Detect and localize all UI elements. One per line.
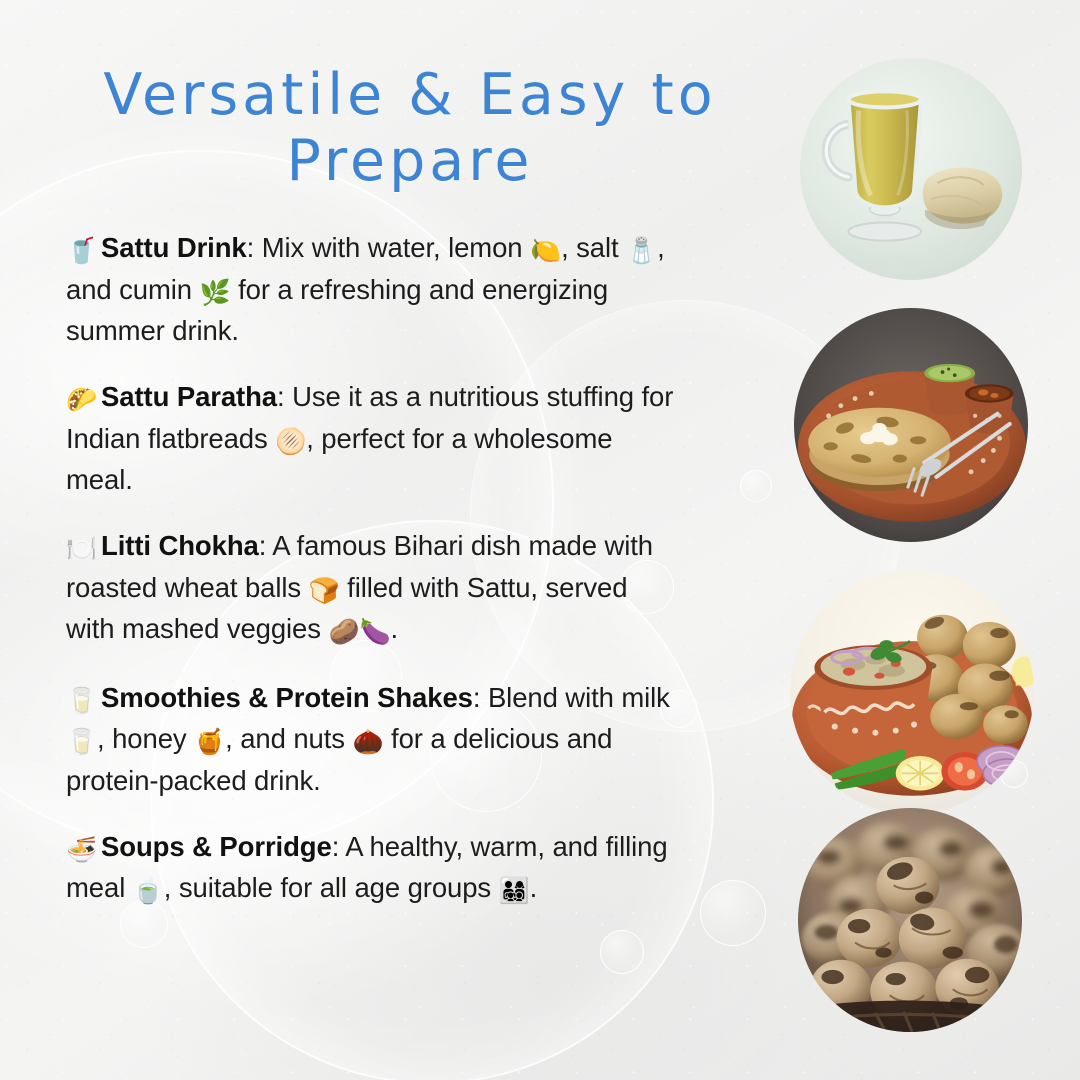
list-item-term: Litti Chokha <box>101 530 259 561</box>
glass-of-milk-icon: 🥛 <box>66 687 97 715</box>
list-item-text: . <box>530 872 538 903</box>
potato-eggplant-icon: 🥔🍆 <box>328 618 390 646</box>
benefits-list: 🥤Sattu Drink: Mix with water, lemon 🍋, s… <box>66 228 680 910</box>
bubble-decoration <box>600 930 644 974</box>
bubble-decoration <box>740 470 772 502</box>
list-item-separator: : <box>247 232 262 263</box>
sattu-paratha-photo <box>794 308 1028 542</box>
flatbread-icon: 🫓 <box>275 428 306 456</box>
list-item-term: Sattu Paratha <box>101 381 277 412</box>
salt-icon: 🧂 <box>626 237 657 265</box>
roasted-litti-photo <box>798 808 1022 1032</box>
list-item: 🍜Soups & Porridge: A healthy, warm, and … <box>66 827 680 910</box>
bread-icon: 🍞 <box>309 577 340 605</box>
bubble-decoration <box>700 880 766 946</box>
fork-knife-plate-icon: 🍽️ <box>66 535 97 563</box>
family-icon: 👨‍👩‍👧‍👦 <box>499 877 530 905</box>
list-item-text: , and nuts <box>225 723 352 754</box>
list-item-text: Mix with water, lemon <box>262 232 530 263</box>
list-item-separator: : <box>332 831 346 862</box>
poster-canvas: Versatile & Easy to Prepare 🥤Sattu Drink… <box>0 0 1080 1080</box>
sattu-drink-photo <box>800 58 1022 280</box>
milk-icon: 🥛 <box>66 728 97 756</box>
list-item-term: Sattu Drink <box>101 232 247 263</box>
list-item-text: , suitable for all age groups <box>164 872 499 903</box>
list-item-separator: : <box>259 530 273 561</box>
honey-icon: 🍯 <box>194 728 225 756</box>
herb-icon: 🌿 <box>200 279 231 307</box>
list-item: 🥛Smoothies & Protein Shakes: Blend with … <box>66 678 680 800</box>
page-title: Versatile & Easy to Prepare <box>60 62 760 194</box>
list-item: 🌮Sattu Paratha: Use it as a nutritious s… <box>66 377 680 499</box>
list-item-text: Blend with milk <box>488 682 670 713</box>
list-item-separator: : <box>473 682 488 713</box>
taco-icon: 🌮 <box>66 386 97 414</box>
teacup-icon: 🍵 <box>133 877 164 905</box>
list-item-text: , honey <box>97 723 194 754</box>
list-item-text: , salt <box>561 232 626 263</box>
lemon-icon: 🍋 <box>530 237 561 265</box>
cup-with-straw-icon: 🥤 <box>66 237 97 265</box>
list-item-text: . <box>391 613 399 644</box>
chestnut-icon: 🌰 <box>352 728 383 756</box>
litti-chokha-photo <box>790 570 1034 814</box>
steaming-bowl-icon: 🍜 <box>66 836 97 864</box>
list-item: 🍽️Litti Chokha: A famous Bihari dish mad… <box>66 526 680 651</box>
list-item-term: Smoothies & Protein Shakes <box>101 682 473 713</box>
list-item-term: Soups & Porridge <box>101 831 332 862</box>
list-item: 🥤Sattu Drink: Mix with water, lemon 🍋, s… <box>66 228 680 350</box>
list-item-separator: : <box>277 381 292 412</box>
